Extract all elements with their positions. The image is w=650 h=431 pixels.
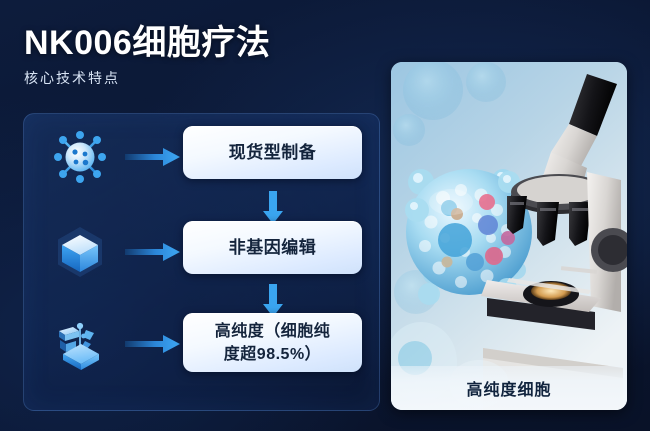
photo-caption: 高纯度细胞 — [466, 376, 551, 400]
flow-node-3-label: 高纯度（细胞纯 度超98.5%） — [207, 320, 339, 366]
exploded-cube-icon — [42, 313, 118, 375]
header: NK006细胞疗法 核心技术特点 — [24, 22, 270, 87]
cube-icon — [42, 221, 118, 283]
flow-panel: 现货型制备 — [23, 113, 380, 411]
virus-cell-icon — [42, 126, 118, 188]
page-subtitle: 核心技术特点 — [24, 69, 270, 87]
flow-node-3-line-2: 度超98.5%） — [224, 346, 321, 363]
arrow-right-icon-1 — [125, 146, 181, 168]
arrow-right-icon-3 — [125, 333, 181, 355]
flow-node-1-label: 现货型制备 — [221, 141, 325, 165]
cell-microscope-photo: 高纯度细胞 — [391, 62, 627, 410]
flow-step-2: 非基因编辑 — [24, 221, 379, 283]
page-title: NK006细胞疗法 — [24, 22, 270, 64]
flow-node-1[interactable]: 现货型制备 — [183, 126, 362, 179]
flow-step-1: 现货型制备 — [24, 126, 379, 188]
photo-illustration — [391, 62, 627, 410]
flow-node-2-label: 非基因编辑 — [221, 236, 325, 260]
flow-node-3-line-1: 高纯度（细胞纯 — [215, 323, 331, 340]
slide-root: NK006细胞疗法 核心技术特点 — [0, 0, 650, 431]
flow-node-3[interactable]: 高纯度（细胞纯 度超98.5%） — [183, 313, 362, 372]
photo-caption-band: 高纯度细胞 — [391, 366, 627, 410]
arrow-down-icon-1 — [263, 191, 283, 225]
flow-step-3: 高纯度（细胞纯 度超98.5%） — [24, 313, 379, 375]
flow-node-2[interactable]: 非基因编辑 — [183, 221, 362, 274]
arrow-right-icon-2 — [125, 241, 181, 263]
